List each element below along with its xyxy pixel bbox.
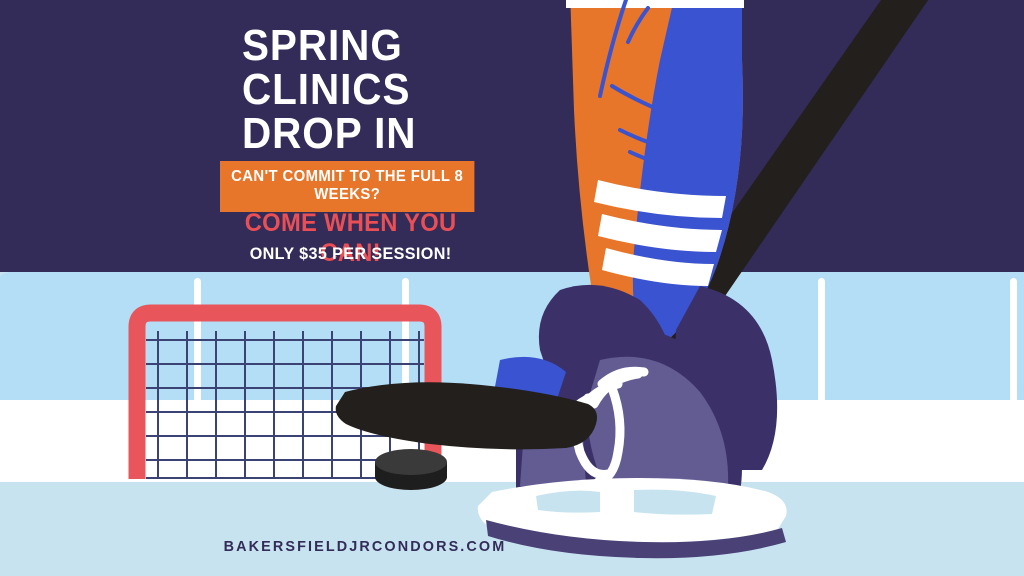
puck-top xyxy=(375,449,447,475)
promo-price: ONLY $35 PER SESSION! xyxy=(220,244,481,264)
hockey-puck xyxy=(375,449,447,490)
poster-artwork xyxy=(0,0,1024,576)
promo-poster: SPRING CLINICS DROP IN CAN'T COMMIT TO T… xyxy=(0,0,1024,576)
page-title: SPRING CLINICS DROP IN xyxy=(242,24,416,156)
sock-top-hem xyxy=(566,0,744,8)
promo-banner: CAN'T COMMIT TO THE FULL 8 WEEKS? xyxy=(220,161,474,212)
footer-website-url[interactable]: BAKERSFIELDJRCONDORS.COM xyxy=(15,538,716,555)
